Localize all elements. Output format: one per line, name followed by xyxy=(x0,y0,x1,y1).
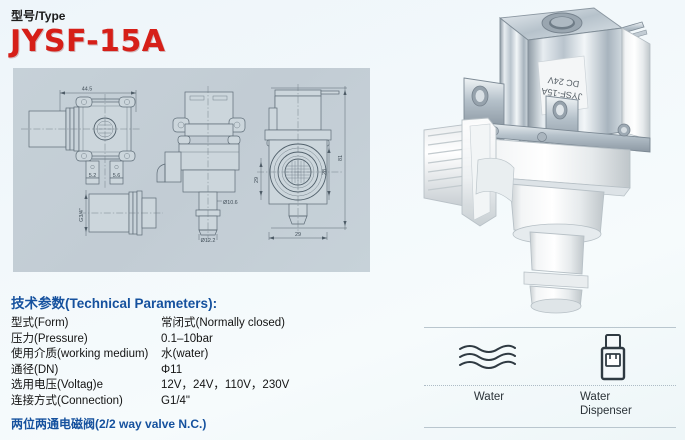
type-label: 型号/Type xyxy=(11,7,65,24)
dim-44-5: 44.5 xyxy=(82,87,93,93)
drawing-view-top: 44.5 xyxy=(21,87,141,189)
applications-top-rule xyxy=(424,327,676,328)
barbed-outlet xyxy=(524,232,588,313)
dim-81: 81 xyxy=(338,155,344,161)
dim-5-2: 5.2 xyxy=(89,173,97,179)
drawing-view-inlet-end: G3/4" xyxy=(79,190,163,236)
product-photo: JYSF-15A DC 24V xyxy=(418,0,685,320)
technical-drawing-svg: .ln{fill:none;stroke:#5d6b76;stroke-widt… xyxy=(13,68,370,272)
model-number: JYSF-15A xyxy=(10,24,165,59)
drawing-view-side: 81 xyxy=(254,84,347,240)
dim-5-6: 5.6 xyxy=(113,173,121,179)
spec-row: 压力(Pressure) 0.1–10bar xyxy=(11,332,371,348)
dim-28: 28 xyxy=(322,169,328,175)
spec-heading: 技术参数(Technical Parameters): xyxy=(11,292,371,312)
technical-drawing-panel: .ln{fill:none;stroke:#5d6b76;stroke-widt… xyxy=(13,68,370,272)
valve-type-footer: 两位两通电磁阀(2/2 way valve N.C.) xyxy=(11,415,206,432)
spec-label: 选用电压(Voltag)e xyxy=(11,378,161,394)
spec-value: 常闭式(Normally closed) xyxy=(161,316,371,332)
spec-label: 使用介质(working medium) xyxy=(11,347,161,363)
spec-value: Φ11 xyxy=(161,363,371,379)
spec-row: 选用电压(Voltag)e 12V，24V，110V，230V xyxy=(11,378,371,394)
spec-row: 连接方式(Connection) G1/4" xyxy=(11,394,371,410)
spec-value: 12V，24V，110V，230V xyxy=(161,378,371,394)
water-waves-icon xyxy=(424,333,550,383)
application-label: Water Dispenser xyxy=(550,391,676,418)
dim-d12-2: Ø12.2 xyxy=(201,238,216,244)
water-dispenser-icon xyxy=(550,333,676,383)
application-label-line1: Water xyxy=(580,391,676,405)
technical-parameters: 技术参数(Technical Parameters): 型式(Form) 常闭式… xyxy=(11,292,371,409)
spec-row: 通径(DN) Φ11 xyxy=(11,363,371,379)
dim-g34: G3/4" xyxy=(79,208,85,222)
dim-29-base: 29 xyxy=(295,232,301,238)
spec-value: 0.1–10bar xyxy=(161,332,371,348)
application-water: Water xyxy=(424,333,550,405)
product-spec-sheet: 型号/Type JYSF-15A .ln{fill:none;stroke:#5… xyxy=(0,0,685,440)
drawing-view-front: Ø10.6 Ø12.2 xyxy=(157,86,245,244)
dim-d10-6: Ø10.6 xyxy=(223,200,238,206)
application-label: Water xyxy=(424,391,550,405)
spec-label: 通径(DN) xyxy=(11,363,161,379)
applications-bottom-rule xyxy=(424,427,676,428)
spec-value: G1/4" xyxy=(161,394,371,410)
application-icons: Water Water Dispenser xyxy=(424,327,676,432)
spec-label: 型式(Form) xyxy=(11,316,161,332)
spec-label: 压力(Pressure) xyxy=(11,332,161,348)
spec-row: 型式(Form) 常闭式(Normally closed) xyxy=(11,316,371,332)
dim-29-side: 29 xyxy=(254,177,260,183)
spec-value: 水(water) xyxy=(161,347,371,363)
spec-label: 连接方式(Connection) xyxy=(11,394,161,410)
spec-row: 使用介质(working medium) 水(water) xyxy=(11,347,371,363)
application-label-line2: Dispenser xyxy=(580,405,676,419)
application-water-dispenser: Water Dispenser xyxy=(550,333,676,418)
solenoid-valve-illustration: JYSF-15A DC 24V xyxy=(418,0,685,320)
